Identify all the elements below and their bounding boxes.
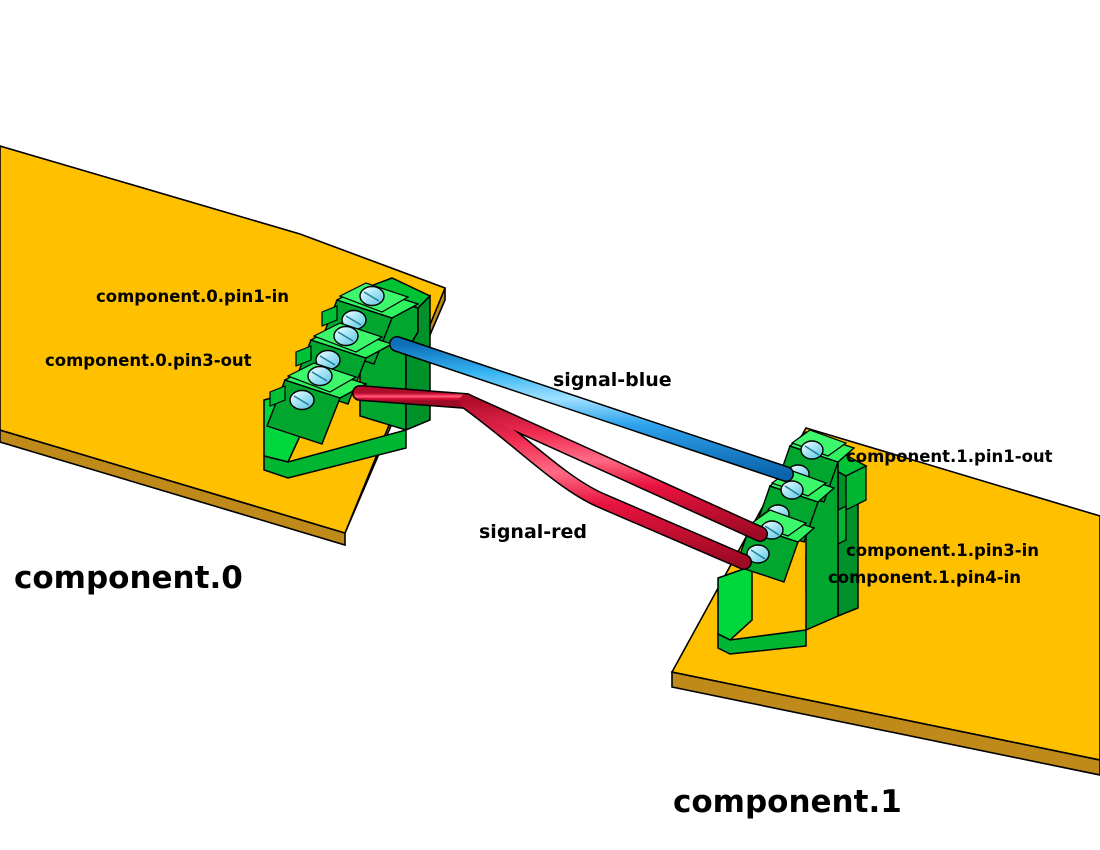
signal-red-trunk-fill	[360, 393, 466, 401]
board-label-component-0: component.0	[14, 560, 243, 596]
diagram-canvas: component.0.pin1-in component.0.pin3-out…	[0, 0, 1100, 850]
pin-label-component-1-pin4-in: component.1.pin4-in	[828, 568, 1021, 587]
pin-label-component-1-pin3-in: component.1.pin3-in	[846, 541, 1039, 560]
wiring-diagram-svg: component.0.pin1-in component.0.pin3-out…	[0, 0, 1100, 850]
pin-label-component-1-pin1-out: component.1.pin1-out	[846, 447, 1053, 466]
wire-label-signal-red: signal-red	[479, 521, 587, 543]
pin-label-component-0-pin1-in: component.0.pin1-in	[96, 287, 289, 306]
board-label-component-1: component.1	[673, 784, 902, 820]
wire-label-signal-blue: signal-blue	[553, 369, 672, 391]
pin-label-component-0-pin3-out: component.0.pin3-out	[45, 351, 252, 370]
